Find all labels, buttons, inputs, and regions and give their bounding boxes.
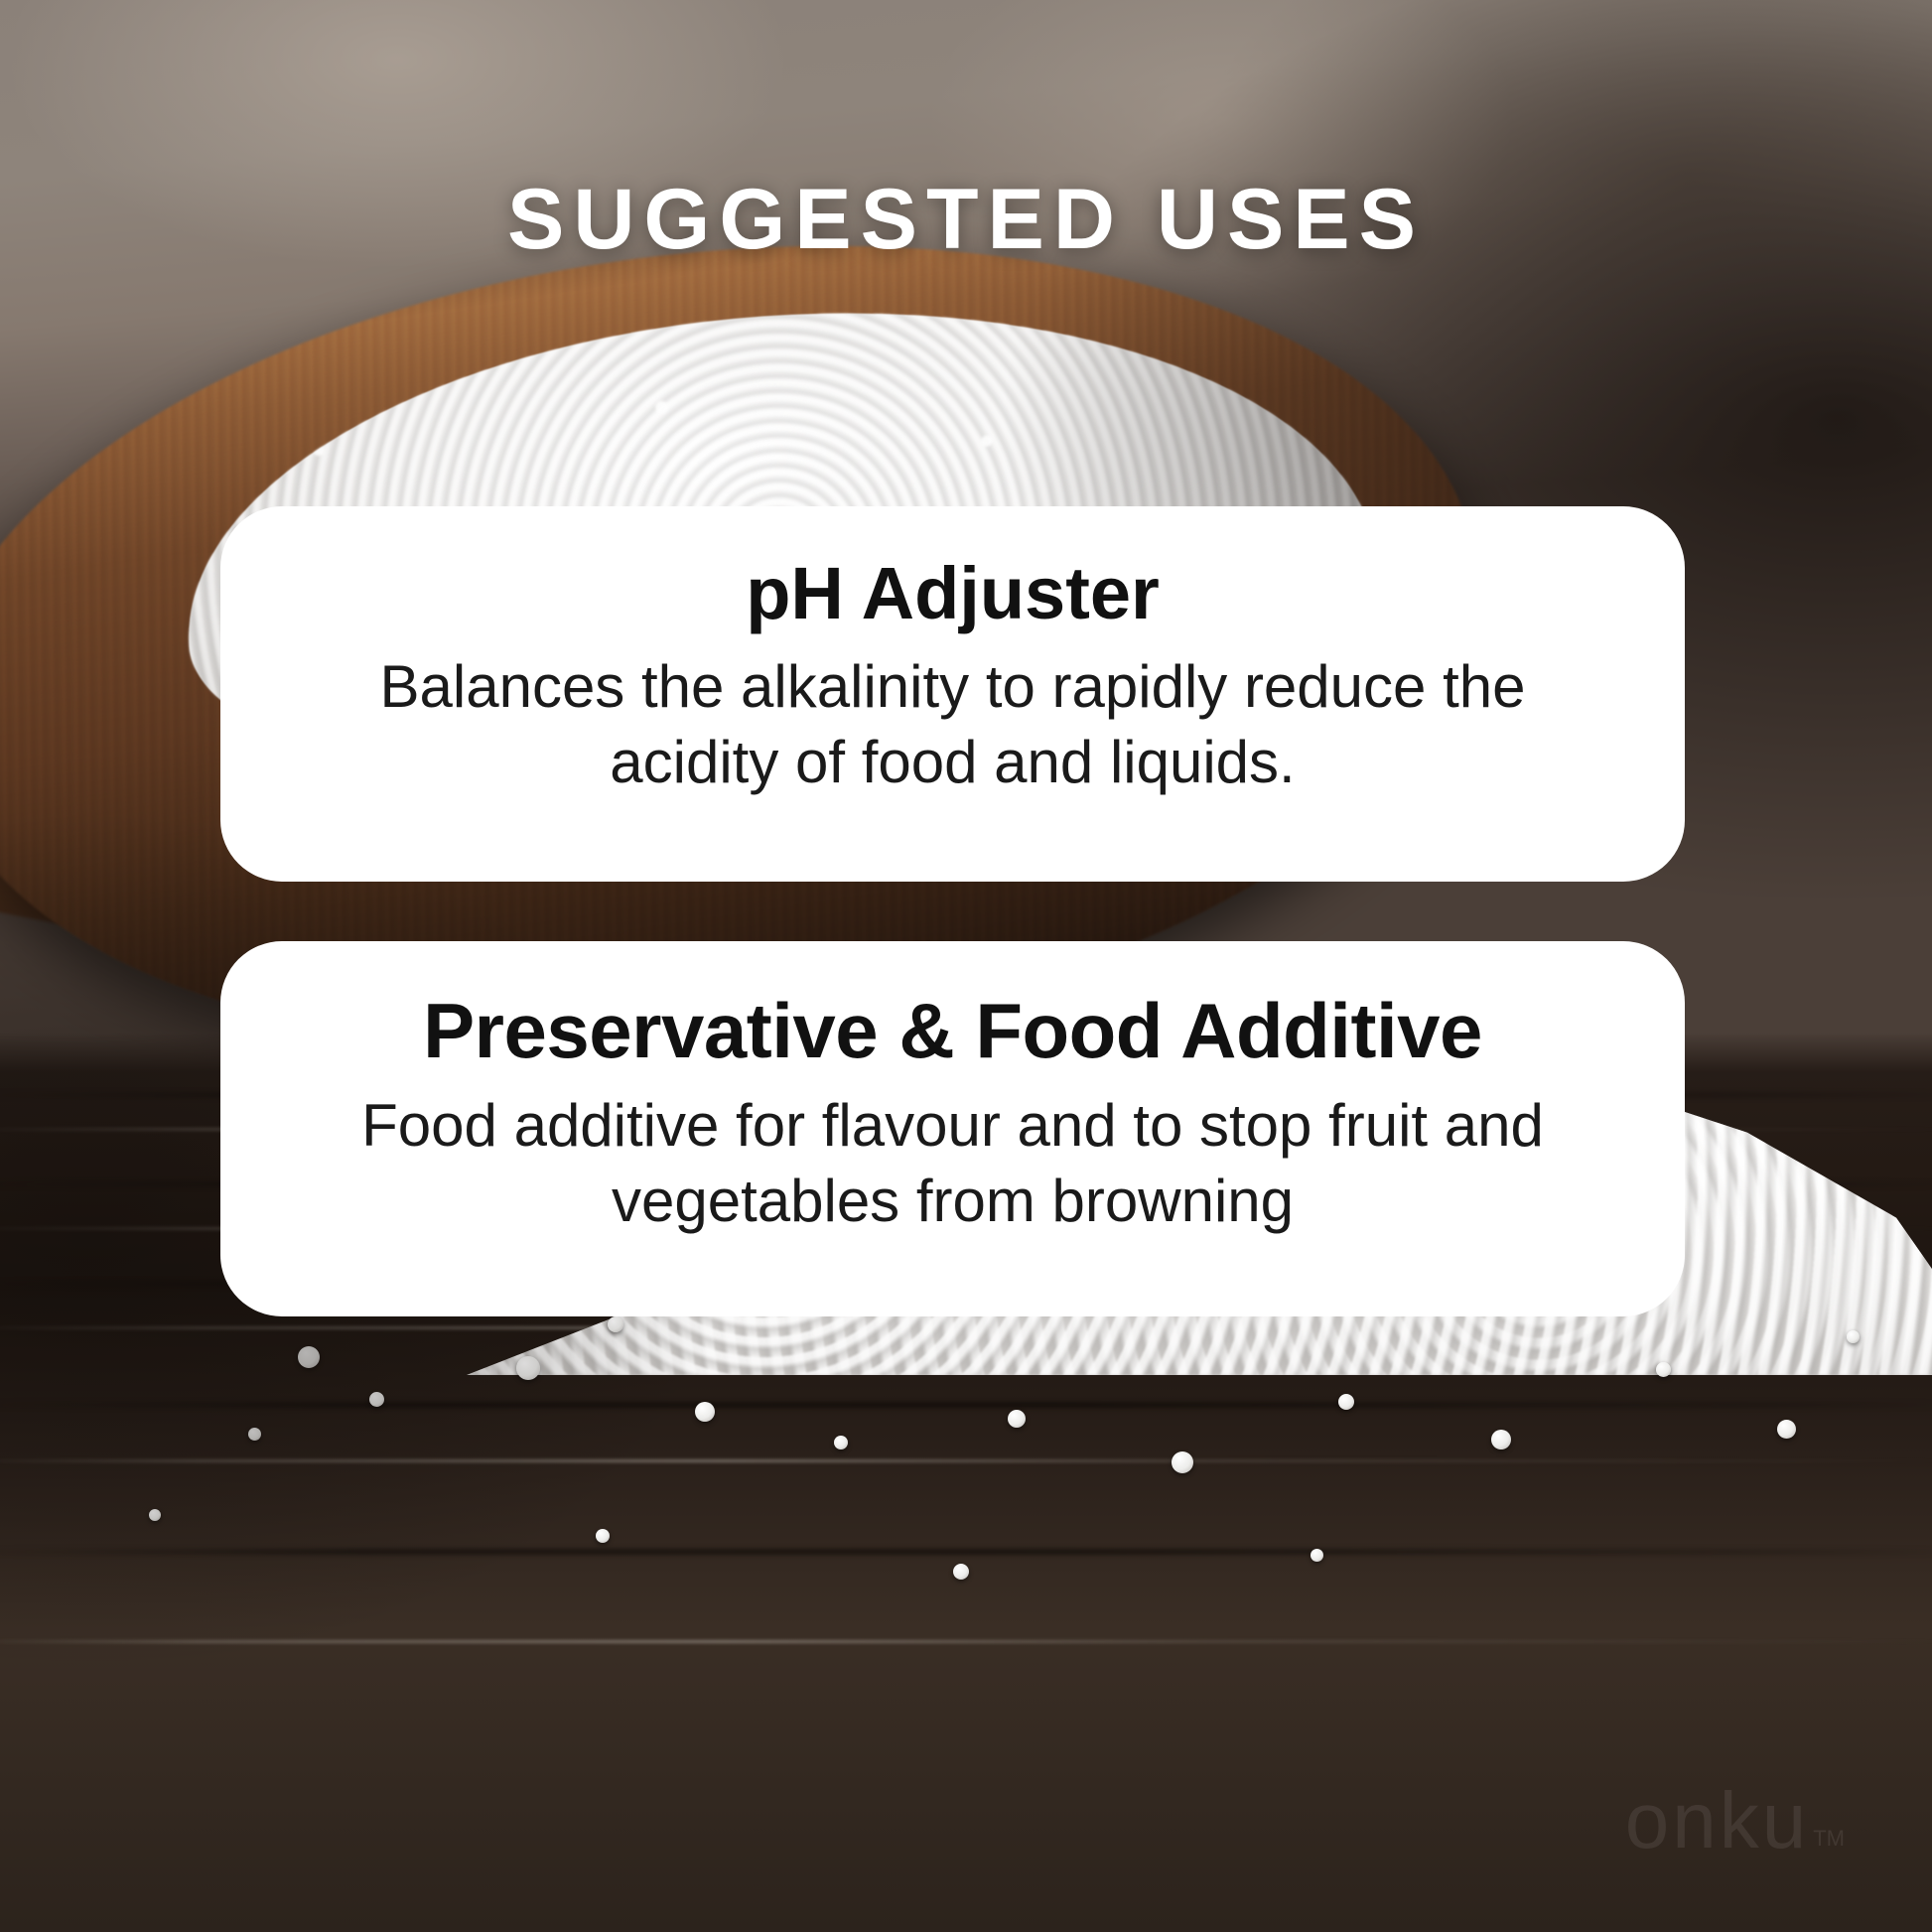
brand-watermark: onkuTM — [1625, 1781, 1841, 1861]
salt-grain — [695, 1402, 715, 1422]
plank-shadow — [0, 1402, 1932, 1408]
salt-grain — [516, 1356, 540, 1380]
salt-grain — [1491, 1430, 1511, 1449]
brand-watermark-text: onku — [1625, 1776, 1809, 1864]
salt-grain — [953, 1564, 969, 1580]
suggested-use-card-ph-adjuster: pH Adjuster Balances the alkalinity to r… — [220, 506, 1685, 882]
card-description: Food additive for flavour and to stop fr… — [290, 1088, 1615, 1238]
salt-grain — [298, 1346, 320, 1368]
salt-grain — [834, 1436, 848, 1449]
salt-grain — [1656, 1362, 1671, 1377]
salt-grain — [369, 1392, 384, 1407]
salt-grain — [1777, 1420, 1796, 1439]
plank-highlight — [0, 1640, 1932, 1643]
salt-grain — [1008, 1410, 1026, 1428]
salt-grain — [1847, 1330, 1860, 1343]
salt-grain — [248, 1428, 261, 1441]
poster-canvas: SUGGESTED USES pH Adjuster Balances the … — [0, 0, 1932, 1932]
salt-grain — [1311, 1549, 1323, 1562]
card-title: Preservative & Food Additive — [290, 989, 1615, 1072]
card-description: Balances the alkalinity to rapidly reduc… — [290, 649, 1615, 799]
page-title: SUGGESTED USES — [0, 177, 1932, 262]
salt-grain — [608, 1316, 623, 1332]
trademark-symbol: TM — [1813, 1826, 1845, 1851]
plank-highlight — [0, 1459, 1932, 1462]
salt-grain — [149, 1509, 161, 1521]
salt-grain — [596, 1529, 610, 1543]
salt-grain — [1338, 1394, 1354, 1410]
salt-grain — [1172, 1451, 1193, 1473]
suggested-use-card-preservative-food-additive: Preservative & Food Additive Food additi… — [220, 941, 1685, 1316]
card-title: pH Adjuster — [290, 554, 1615, 633]
plank-shadow — [0, 1549, 1932, 1555]
